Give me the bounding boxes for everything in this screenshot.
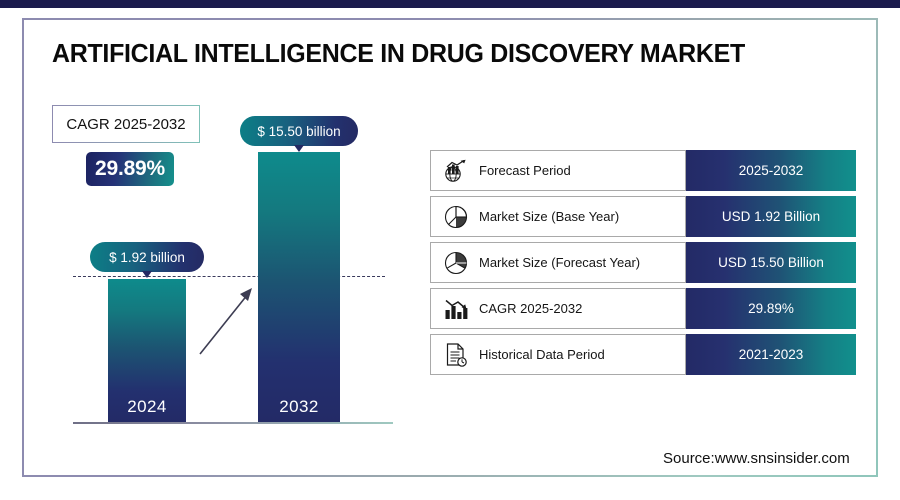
bar-label-2024: 2024	[108, 397, 186, 417]
table-row-value-cell: 29.89%	[686, 288, 856, 329]
infographic-canvas: ARTIFICIAL INTELLIGENCE IN DRUG DISCOVER…	[0, 0, 900, 500]
table-row: Historical Data Period 2021-2023	[430, 334, 856, 375]
table-row: Forecast Period 2025-2032	[430, 150, 856, 191]
chart-baseline-axis	[73, 422, 393, 424]
table-row: Market Size (Forecast Year) USD 15.50 Bi…	[430, 242, 856, 283]
table-row-value-cell: 2021-2023	[686, 334, 856, 375]
bar-label-2032: 2032	[258, 397, 340, 417]
table-row-value-cell: 2025-2032	[686, 150, 856, 191]
growth-arrow-icon	[196, 282, 258, 358]
bar-chart: 2024 2032 $ 1.92 billion $ 15.50 billion	[0, 0, 420, 500]
table-row-label-cell: Historical Data Period	[430, 334, 686, 375]
value-pill-2024-text: $ 1.92 billion	[109, 250, 185, 265]
table-row-label: Market Size (Forecast Year)	[479, 255, 640, 270]
table-row-label: Forecast Period	[479, 163, 571, 178]
bar-chart-trend-icon	[439, 294, 473, 324]
document-clock-icon	[439, 340, 473, 370]
table-row-value: 29.89%	[748, 301, 794, 316]
value-pill-2024: $ 1.92 billion	[90, 242, 204, 272]
table-row-label-cell: Market Size (Forecast Year)	[430, 242, 686, 283]
bar-2032: 2032	[258, 152, 340, 423]
pie-chart-icon	[439, 202, 473, 232]
value-pill-2032: $ 15.50 billion	[240, 116, 358, 146]
value-pill-2032-text: $ 15.50 billion	[257, 124, 340, 139]
table-row-label: Historical Data Period	[479, 347, 605, 362]
table-row-value-cell: USD 15.50 Billion	[686, 242, 856, 283]
bar-2024: 2024	[108, 279, 186, 423]
table-row-label-cell: Market Size (Base Year)	[430, 196, 686, 237]
table-row-label: CAGR 2025-2032	[479, 301, 582, 316]
table-row-value: 2025-2032	[739, 163, 804, 178]
pie-chart-thirds-icon	[439, 248, 473, 278]
globe-growth-chart-icon	[439, 156, 473, 186]
summary-table: Forecast Period 2025-2032 M	[430, 150, 856, 380]
table-row-value-cell: USD 1.92 Billion	[686, 196, 856, 237]
table-row: CAGR 2025-2032 29.89%	[430, 288, 856, 329]
table-row-value: 2021-2023	[739, 347, 804, 362]
table-row-label-cell: CAGR 2025-2032	[430, 288, 686, 329]
table-row-value: USD 15.50 Billion	[718, 255, 824, 270]
table-row: Market Size (Base Year) USD 1.92 Billion	[430, 196, 856, 237]
source-attribution: Source:www.snsinsider.com	[663, 450, 850, 467]
table-row-label-cell: Forecast Period	[430, 150, 686, 191]
table-row-value: USD 1.92 Billion	[722, 209, 820, 224]
table-row-label: Market Size (Base Year)	[479, 209, 619, 224]
